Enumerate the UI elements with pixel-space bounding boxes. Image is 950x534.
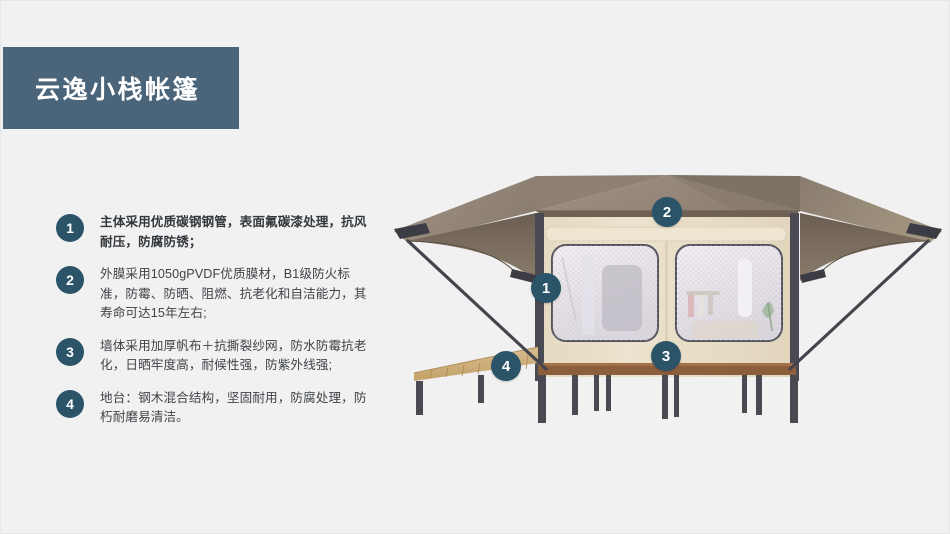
feature-badge-3: 3 <box>56 338 84 366</box>
list-item: 4 地台：钢木混合结构，坚固耐用，防腐处理，防朽耐磨易清洁。 <box>56 389 368 428</box>
callout-marker-2[interactable]: 2 <box>652 197 682 227</box>
feature-text-1: 主体采用优质碳钢钢管，表面氟碳漆处理，抗风耐压，防腐防锈； <box>100 213 368 252</box>
feature-text-3: 墙体采用加厚帆布＋抗撕裂纱网，防水防霉抗老化，日晒牢度高，耐候性强，防紫外线强; <box>100 337 368 376</box>
page-title: 云逸小栈帐篷 <box>35 70 200 106</box>
list-item: 2 外膜采用1050gPVDF优质膜材，B1级防火标准，防霉、防晒、阻燃、抗老化… <box>56 265 368 324</box>
feature-list: 1 主体采用优质碳钢钢管，表面氟碳漆处理，抗风耐压，防腐防锈； 2 外膜采用10… <box>56 213 368 441</box>
feature-badge-2: 2 <box>56 266 84 294</box>
callout-marker-4[interactable]: 4 <box>491 351 521 381</box>
feature-badge-1: 1 <box>56 214 84 242</box>
list-item: 1 主体采用优质碳钢钢管，表面氟碳漆处理，抗风耐压，防腐防锈； <box>56 213 368 252</box>
feature-text-4: 地台：钢木混合结构，坚固耐用，防腐处理，防朽耐磨易清洁。 <box>100 389 368 428</box>
list-item: 3 墙体采用加厚帆布＋抗撕裂纱网，防水防霉抗老化，日晒牢度高，耐候性强，防紫外线… <box>56 337 368 376</box>
callout-marker-1[interactable]: 1 <box>531 273 561 303</box>
callout-marker-3[interactable]: 3 <box>651 341 681 371</box>
feature-text-2: 外膜采用1050gPVDF优质膜材，B1级防火标准，防霉、防晒、阻燃、抗老化和自… <box>100 265 368 324</box>
slide-canvas: 云逸小栈帐篷 1 主体采用优质碳钢钢管，表面氟碳漆处理，抗风耐压，防腐防锈； 2… <box>0 0 950 534</box>
title-banner: 云逸小栈帐篷 <box>3 47 239 129</box>
feature-badge-4: 4 <box>56 390 84 418</box>
